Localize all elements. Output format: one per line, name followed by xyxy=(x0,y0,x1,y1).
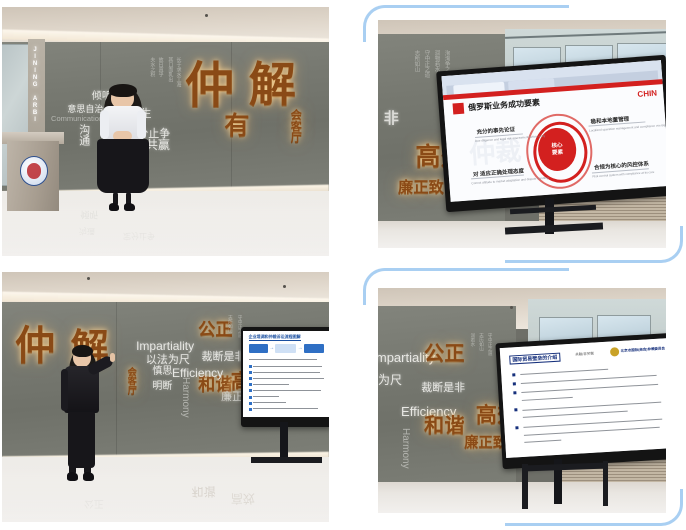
person-speaker xyxy=(54,342,110,482)
wall-gold-char-you: 有 xyxy=(224,114,250,138)
slide-body-line xyxy=(253,402,286,403)
wall-seam xyxy=(116,302,117,457)
ceiling-sprinkler xyxy=(283,285,286,288)
display-stand-leg-left xyxy=(522,464,528,509)
column-sign-label: JINING ARBI xyxy=(32,47,38,124)
frame-accent-top-edge xyxy=(391,268,569,271)
list-marker xyxy=(512,373,515,376)
slide-body-line xyxy=(253,408,318,409)
slide-body-line xyxy=(523,418,662,427)
ceiling-sprinkler xyxy=(87,277,90,280)
shoe-right xyxy=(124,203,135,211)
slide-arbitration-flow: 企业境调和仲裁诉讼流程图解 → → xyxy=(243,331,329,417)
wall-gold-room-name: 会客厅 xyxy=(290,109,300,143)
slide-body-rule xyxy=(249,359,318,360)
hand-pointing xyxy=(110,353,116,361)
wall-gold-char-jie: 解 xyxy=(249,64,297,109)
floor-reflection-text-2: 沟通 xyxy=(79,226,95,234)
frame-accent-bottom-edge xyxy=(505,523,655,526)
room-scene: 仲 解 会客厅 公正 和谐 高效 Impartiality 以法为尺 裁断是非 … xyxy=(2,272,329,522)
display-screen: 企业境调和仲裁诉讼流程图解 → → xyxy=(243,331,329,417)
wall-text-shensi: 慎思 xyxy=(152,367,172,378)
wall-vertical-line-3: 守中正之道 xyxy=(487,333,492,356)
podium-emblem xyxy=(20,156,48,185)
photo-image-speaker-pointing: 仲 解 会客厅 公正 和谐 高效 Impartiality 以法为尺 裁断是非 … xyxy=(2,272,329,522)
slide-body-line xyxy=(253,372,320,373)
wall-text-yifaweichi: 以法为尺 xyxy=(146,355,190,367)
trousers xyxy=(68,412,96,468)
photo-image-presentation-core-elements: 非 高效 廉正致 志所如山 守中正之道 润物若水 洵洵争之际 xyxy=(378,20,666,248)
wall-text-harmony: Harmony xyxy=(399,428,410,469)
slide-body-line xyxy=(521,375,657,384)
wall-vertical-line-3: 润物若水 xyxy=(433,50,439,72)
photo-panel-top-right[interactable]: 非 高效 廉正致 志所如山 守中正之道 润物若水 洵洵争之际 xyxy=(363,5,683,263)
display-bezel: 国际贸易壁垒的介绍 关税/非关税 北京市国际(商会)仲裁委员会 xyxy=(495,332,666,468)
slide-body-line xyxy=(253,366,322,367)
slide-body-line xyxy=(521,383,658,392)
flow-arrow-1: → xyxy=(269,345,274,351)
wall-vertical-line-2: 志历如山 xyxy=(479,333,484,351)
arm-down xyxy=(61,369,68,411)
org-badge-icon xyxy=(609,346,619,356)
floor-reflection-text-1: 倾听 xyxy=(80,209,98,218)
room-scene: Impartiality 为尺 公正 裁断是非 Efficiency 和谐 Ha… xyxy=(378,288,666,513)
slide-title: 企业境调和仲裁诉讼流程图解 xyxy=(249,334,301,341)
shoe-left xyxy=(109,203,120,211)
wall-gold-hexie: 和谐 xyxy=(424,416,465,435)
core-label-line2: 要素 xyxy=(552,150,563,157)
display-stand-leg-right xyxy=(603,461,609,506)
slide-body-line xyxy=(523,410,628,417)
floor-reflection xyxy=(2,457,329,522)
display-bezel: 俄罗斯业务成功要素 CHIN 仲裁 核心 要素 充分的事先论证 Due dili… xyxy=(436,55,666,213)
wall-vertical-line-2: 故曰直乎 xyxy=(157,57,162,77)
floor-reflection-text-3: 公正 xyxy=(84,497,104,508)
title-accent-square xyxy=(453,103,465,115)
slide-core-elements: 俄罗斯业务成功要素 CHIN 仲裁 核心 要素 充分的事先论证 Due dili… xyxy=(442,60,666,202)
list-marker xyxy=(514,408,517,411)
bullet-marker xyxy=(249,377,252,380)
wall-gold-room-name: 会客厅 xyxy=(126,367,135,395)
hair-front xyxy=(72,345,93,358)
frame-accent-bottom-edge xyxy=(505,260,655,263)
person-speaker xyxy=(87,82,159,211)
wall-vertical-line-1: 志所如山 xyxy=(413,50,419,72)
slide-body-line xyxy=(520,369,608,375)
flow-step-2 xyxy=(275,344,296,353)
display-screen: 俄罗斯业务成功要素 CHIN 仲裁 核心 要素 充分的事先论证 Due dili… xyxy=(442,60,666,202)
wall-vertical-line-2: 守中正之道 xyxy=(423,50,429,78)
wall-text-fei: 非 xyxy=(384,111,399,127)
wall-text-caiduanshifei: 裁断是非 xyxy=(421,383,465,395)
slide-brand-logo: CHIN xyxy=(638,88,658,98)
wall-vertical-line-1: 志所如山 xyxy=(228,315,233,333)
collage-canvas: JINING ARBI 仲 解 有 会客厅 意思自治 共生 Communicat… xyxy=(0,0,686,530)
display-screen: 国际贸易壁垒的介绍 关税/非关税 北京市国际(商会)仲裁委员会 xyxy=(500,338,666,457)
wall-vertical-line-1: 润若水 xyxy=(470,333,475,347)
slide-body-line xyxy=(253,378,324,379)
bullet-marker xyxy=(249,371,252,374)
floor-reflection-text-2: 高效 xyxy=(231,492,255,505)
slide-trade-barriers: 国际贸易壁垒的介绍 关税/非关税 北京市国际(商会)仲裁委员会 xyxy=(500,338,666,457)
bullet-marker xyxy=(249,389,252,392)
photo-image-arbitration-hall-speaker-wide: JINING ARBI 仲 解 有 会客厅 意思自治 共生 Communicat… xyxy=(2,7,329,256)
shoe-right xyxy=(83,472,94,480)
list-marker xyxy=(515,426,518,429)
wall-vertical-line-1: 夫水之积 xyxy=(149,57,154,77)
floor-reflection-text-1: 和谐 xyxy=(192,485,216,498)
wall-gold-gongzheng: 公正 xyxy=(424,344,465,363)
slide-body-line xyxy=(253,396,279,397)
display-stand-post xyxy=(280,422,288,462)
display-bezel: 企业境调和仲裁诉讼流程图解 → → xyxy=(241,327,329,427)
slide-body-line xyxy=(522,396,573,400)
wall-gold-char-zhong: 仲 xyxy=(185,62,235,109)
bullet-marker xyxy=(249,383,252,386)
floor-reflection-text-3: 定分止争 xyxy=(123,231,155,239)
floor xyxy=(378,221,666,248)
wall-text-harmony: Harmony xyxy=(180,377,191,418)
bullet-marker xyxy=(249,396,252,399)
photo-panel-top-left[interactable]: JINING ARBI 仲 解 有 会客厅 意思自治 共生 Communicat… xyxy=(2,7,329,256)
wall-text-mingduan: 明断 xyxy=(152,382,172,393)
photo-panel-bottom-left[interactable]: 仲 解 会客厅 公正 和谐 高效 Impartiality 以法为尺 裁断是非 … xyxy=(2,272,329,522)
bullet-marker xyxy=(249,408,252,411)
wall-gold-char-zhong: 仲 xyxy=(15,327,56,365)
skirt xyxy=(97,139,149,193)
list-marker xyxy=(513,391,516,394)
wall-gold-lianzhengzhi: 廉正致 xyxy=(398,180,444,194)
slide-body-line xyxy=(253,390,321,391)
bullet-marker xyxy=(249,402,252,405)
photo-panel-bottom-right[interactable]: Impartiality 为尺 公正 裁断是非 Efficiency 和谐 Ha… xyxy=(363,268,683,526)
slide-org-logo: 北京市国际(商会)仲裁委员会 xyxy=(609,343,665,355)
slide-title: 国际贸易壁垒的介绍 xyxy=(509,352,560,364)
wall-text-weichi: 为尺 xyxy=(378,374,402,387)
frame-accent-top-edge xyxy=(391,5,569,8)
room-scene: JINING ARBI 仲 解 有 会客厅 意思自治 共生 Communicat… xyxy=(2,7,329,256)
room-scene: 非 高效 廉正致 志所如山 守中正之道 润物若水 洵洵争之际 xyxy=(378,20,666,248)
photo-image-presentation-trade-barriers: Impartiality 为尺 公正 裁断是非 Efficiency 和谐 Ha… xyxy=(378,288,666,513)
flow-arrow-2: → xyxy=(298,345,303,351)
flow-step-3 xyxy=(304,344,325,353)
slide-title: 俄罗斯业务成功要素 xyxy=(468,97,541,113)
bullet-marker xyxy=(249,365,252,368)
list-marker xyxy=(512,382,515,385)
arm-right xyxy=(137,110,146,138)
hair-front xyxy=(109,84,136,97)
slide-body-line xyxy=(524,440,561,443)
wall-text-caiduanshifei: 裁断是非 xyxy=(201,352,245,364)
display-stand-base xyxy=(251,457,323,463)
arm-left xyxy=(100,110,109,138)
wall-vertical-line-4: 长于求水工海 xyxy=(175,57,180,87)
slide-subtitle: 关税/非关税 xyxy=(575,351,594,357)
slide-body-line xyxy=(522,401,661,410)
wall-text-impartiality: Impartiality xyxy=(136,340,194,353)
flow-step-1 xyxy=(249,344,268,353)
slide-body-line xyxy=(524,426,660,435)
wall-vertical-line-3: 其口而乳出 xyxy=(167,57,172,82)
org-logo-label: 北京市国际(商会)仲裁委员会 xyxy=(621,345,666,353)
slide-body-line xyxy=(253,384,289,385)
shoe-left xyxy=(67,472,78,480)
